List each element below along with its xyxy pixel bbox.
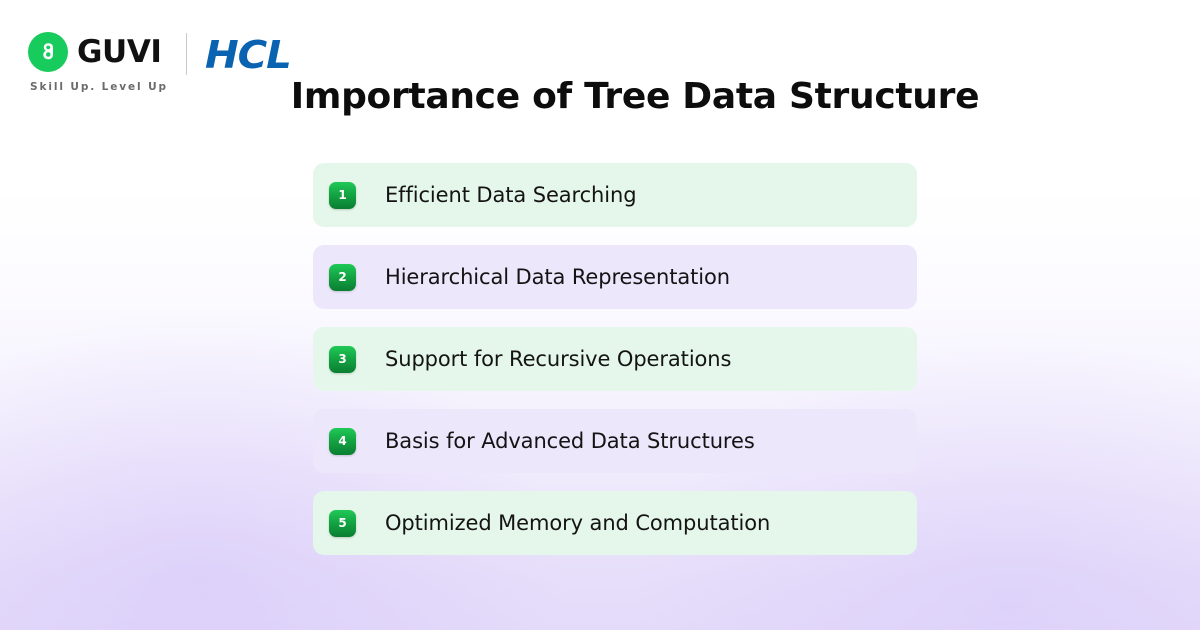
list-item-label: Basis for Advanced Data Structures [385,429,755,453]
benefits-list: 1 Efficient Data Searching 2 Hierarchica… [313,163,917,555]
list-item-label: Hierarchical Data Representation [385,265,730,289]
list-item: 4 Basis for Advanced Data Structures [313,409,917,473]
list-item: 1 Efficient Data Searching [313,163,917,227]
guvi-g-mark-icon [28,32,68,72]
item-number-badge: 2 [329,264,356,291]
list-item-label: Efficient Data Searching [385,183,636,207]
infographic-canvas: GUVI Skill Up. Level Up HCL Importance o… [0,0,1200,630]
item-number-badge: 3 [329,346,356,373]
page-title: Importance of Tree Data Structure [0,76,1200,117]
list-item: 2 Hierarchical Data Representation [313,245,917,309]
brand-divider [186,33,188,75]
list-item: 3 Support for Recursive Operations [313,327,917,391]
guvi-logo-row: GUVI [28,32,168,72]
item-number-badge: 1 [329,182,356,209]
list-item: 5 Optimized Memory and Computation [313,491,917,555]
guvi-wordmark: GUVI [77,37,162,68]
hcl-wordmark: HCL [205,36,291,74]
item-number-badge: 5 [329,510,356,537]
list-item-label: Support for Recursive Operations [385,347,731,371]
item-number-badge: 4 [329,428,356,455]
list-item-label: Optimized Memory and Computation [385,511,770,535]
